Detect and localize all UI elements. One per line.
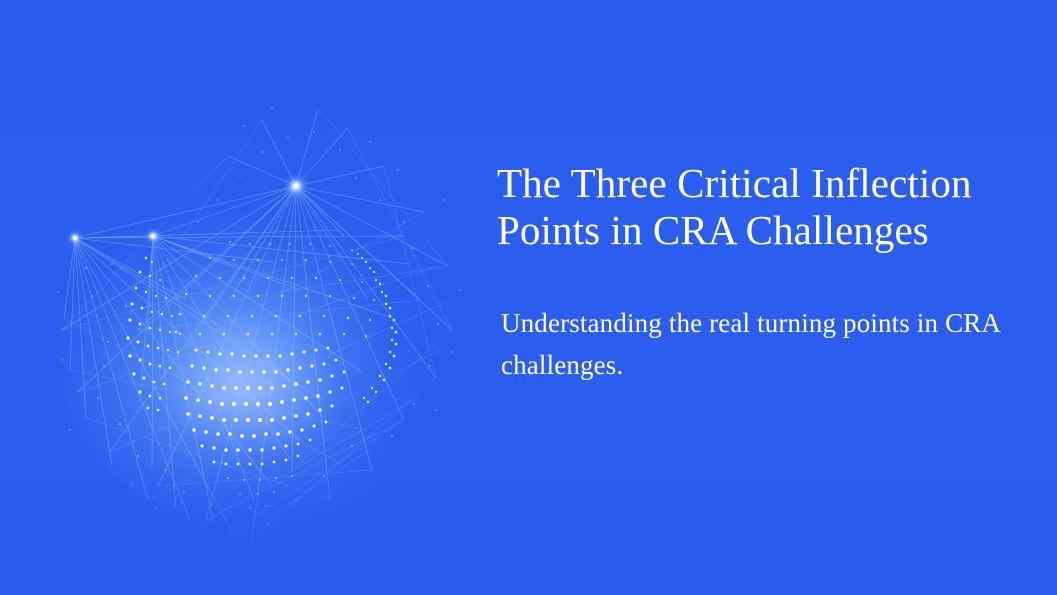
slide-subtitle: Understanding the real turning points in…: [497, 254, 1027, 386]
slide-canvas: The Three Critical Inflection Points in …: [0, 0, 1057, 595]
page-title: The Three Critical Inflection Points in …: [497, 160, 1027, 254]
slide-text-block: The Three Critical Inflection Points in …: [497, 160, 1027, 386]
